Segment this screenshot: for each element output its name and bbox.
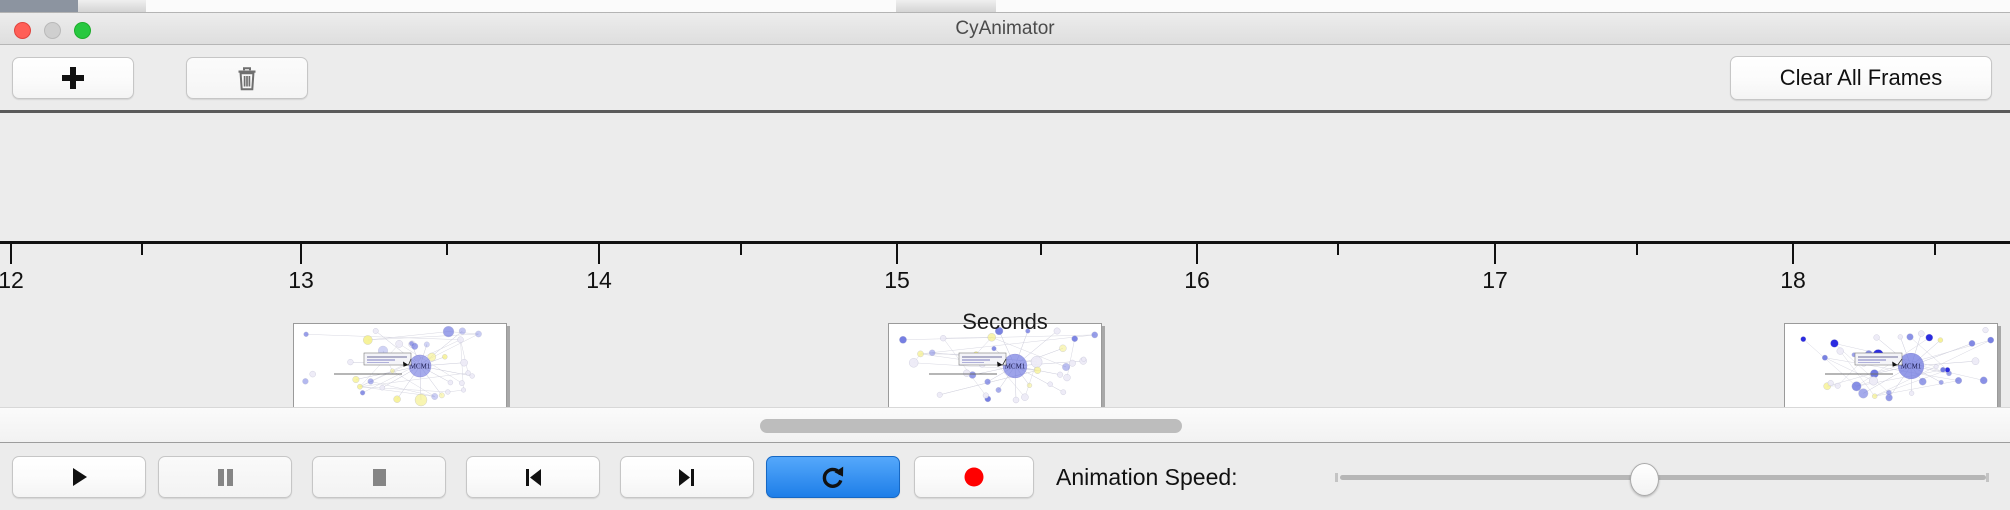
slider-cap-right [1986, 473, 1989, 482]
axis-tick [141, 244, 143, 255]
axis-tick [1337, 244, 1339, 255]
stop-icon [366, 464, 392, 490]
playback-controls: Animation Speed: [0, 444, 2010, 510]
axis-tick-label: 18 [1780, 267, 1806, 294]
axis-tick-label: 15 [884, 267, 910, 294]
record-button[interactable] [914, 456, 1034, 498]
skip-to-start-button[interactable] [466, 456, 600, 498]
pause-icon [212, 464, 238, 490]
clear-all-frames-label: Clear All Frames [1780, 65, 1943, 91]
skip-to-end-button[interactable] [620, 456, 754, 498]
timeline-axis: 12131415161718 Seconds [0, 241, 2010, 361]
axis-tick [300, 244, 302, 264]
svg-text:MCM1: MCM1 [410, 363, 431, 371]
slider-thumb[interactable] [1630, 463, 1659, 496]
svg-text:MCM1: MCM1 [1005, 363, 1026, 371]
axis-tick [1040, 244, 1042, 255]
loop-button[interactable] [766, 456, 900, 498]
axis-tick [740, 244, 742, 255]
skip-start-icon [520, 464, 546, 490]
record-icon [961, 464, 987, 490]
timeline-scrollbar[interactable] [0, 407, 2010, 443]
skip-end-icon [674, 464, 700, 490]
axis-tick [598, 244, 600, 264]
timeline-scrollbar-thumb[interactable] [760, 419, 1182, 433]
svg-text:MCM1: MCM1 [1901, 363, 1922, 371]
axis-tick [10, 244, 12, 264]
plus-icon [61, 66, 85, 90]
axis-tick-label: 17 [1482, 267, 1508, 294]
timeline-panel[interactable]: MCM1 MCM1 MCM1 [0, 113, 2010, 407]
axis-tick-label: 13 [288, 267, 314, 294]
axis-tick [1636, 244, 1638, 255]
clear-all-frames-button[interactable]: Clear All Frames [1730, 56, 1992, 100]
animation-speed-label: Animation Speed: [1056, 456, 1238, 498]
axis-tick [446, 244, 448, 255]
cyanimator-window: Shape CyAnimator [0, 0, 2010, 510]
animation-speed-slider[interactable] [1330, 456, 1996, 498]
play-icon [66, 464, 92, 490]
axis-tick [1934, 244, 1936, 255]
axis-tick [1196, 244, 1198, 264]
delete-frame-button[interactable] [186, 57, 308, 99]
trash-icon [235, 65, 259, 91]
play-button[interactable] [12, 456, 146, 498]
add-frame-button[interactable] [12, 57, 134, 99]
toolbar: Clear All Frames [0, 45, 2010, 112]
slider-cap-left [1335, 473, 1338, 482]
axis-tick [1494, 244, 1496, 264]
axis-tick-label: 12 [0, 267, 24, 294]
stop-button[interactable] [312, 456, 446, 498]
loop-icon [818, 462, 848, 492]
titlebar: CyAnimator [0, 13, 2010, 45]
axis-tick-label: 16 [1184, 267, 1210, 294]
axis-tick-label: 14 [586, 267, 612, 294]
window-title: CyAnimator [0, 13, 2010, 45]
slider-track[interactable] [1340, 475, 1986, 480]
axis-tick [1792, 244, 1794, 264]
axis-tick [896, 244, 898, 264]
axis-title: Seconds [0, 309, 2010, 335]
pause-button[interactable] [158, 456, 292, 498]
